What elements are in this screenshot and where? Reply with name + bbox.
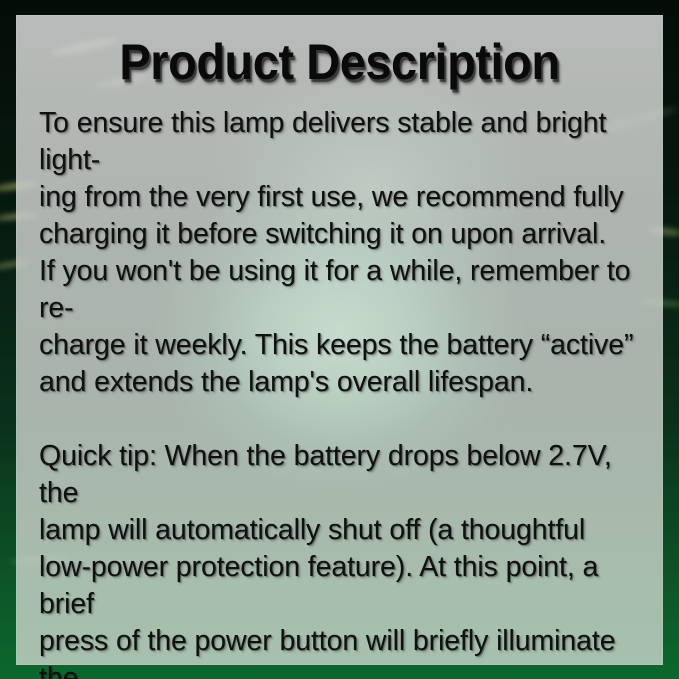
description-paragraph: Quick tip: When the battery drops below … (39, 438, 637, 679)
description-paragraph: To ensure this lamp delivers stable and … (39, 105, 637, 401)
page-title: Product Description (47, 33, 633, 105)
description-panel: Product Description To ensure this lamp … (16, 15, 663, 665)
product-description-image: Product Description To ensure this lamp … (0, 0, 679, 679)
description-body: To ensure this lamp delivers stable and … (28, 105, 651, 679)
